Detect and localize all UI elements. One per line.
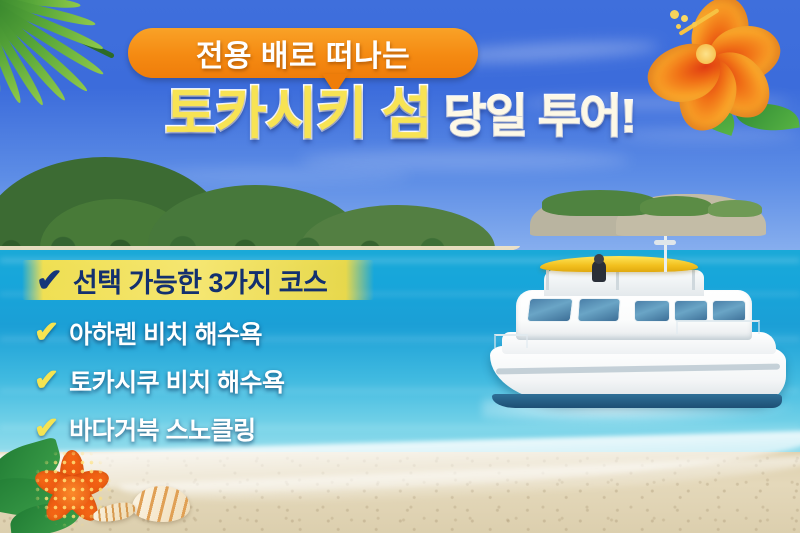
page-title: 토카시키 섬 당일 투어! [0, 86, 800, 142]
person-head [594, 254, 604, 264]
feature-item-tokashiku-beach: ✔ 토카시쿠 비치 해수욕 [28, 358, 428, 404]
island-vegetation [708, 200, 762, 217]
badge-bubble: 전용 배로 떠나는 [128, 28, 478, 78]
check-icon: ✔ [34, 366, 59, 396]
feature-label: 바다거북 스노클링 [69, 411, 255, 447]
canopy-post [692, 270, 695, 290]
boat-window [577, 298, 621, 322]
feature-item-courses: ✔ 선택 가능한 3가지 코스 [28, 258, 428, 302]
radar-antenna-icon [654, 240, 676, 245]
boat-railing [494, 334, 528, 348]
motor-yacht [488, 236, 800, 436]
feature-label: 아하렌 비치 해수욕 [69, 315, 262, 351]
canopy-post [616, 270, 619, 290]
feature-item-aharen-beach: ✔ 아하렌 비치 해수욕 [28, 310, 428, 356]
boat-window [674, 300, 708, 322]
headline-block: 전용 배로 떠나는 토카시키 섬 당일 투어! [0, 0, 800, 160]
feature-label: 토카시쿠 비치 해수욕 [69, 363, 284, 399]
island-vegetation [640, 196, 712, 216]
check-icon: ✔ [34, 318, 59, 348]
title-rest: 당일 투어! [444, 93, 635, 142]
boat-railing [676, 320, 760, 334]
canopy-post [546, 270, 549, 290]
feature-list: ✔ 선택 가능한 3가지 코스 ✔ 아하렌 비치 해수욕 ✔ 토카시쿠 비치 해… [28, 258, 428, 454]
feature-item-turtle-snorkeling: ✔ 바다거북 스노클링 [28, 406, 428, 452]
yellow-canopy [540, 256, 698, 272]
badge-text: 전용 배로 떠나는 [128, 28, 478, 78]
seashell-icon [132, 486, 190, 522]
boat-window [712, 300, 746, 322]
check-icon: ✔ [34, 414, 59, 444]
promo-banner: 전용 배로 떠나는 토카시키 섬 당일 투어! ✔ 선택 가능한 3가지 코스 … [0, 0, 800, 533]
feature-label: 선택 가능한 3가지 코스 [73, 261, 328, 300]
boat-waterline [492, 394, 782, 408]
boat-flybridge [544, 270, 704, 296]
starfish-center [54, 476, 90, 510]
island-right [520, 188, 770, 236]
check-icon: ✔ [36, 264, 63, 296]
boat-window [634, 300, 670, 322]
title-highlight: 토카시키 섬 [165, 86, 432, 142]
boat-window [527, 298, 574, 322]
